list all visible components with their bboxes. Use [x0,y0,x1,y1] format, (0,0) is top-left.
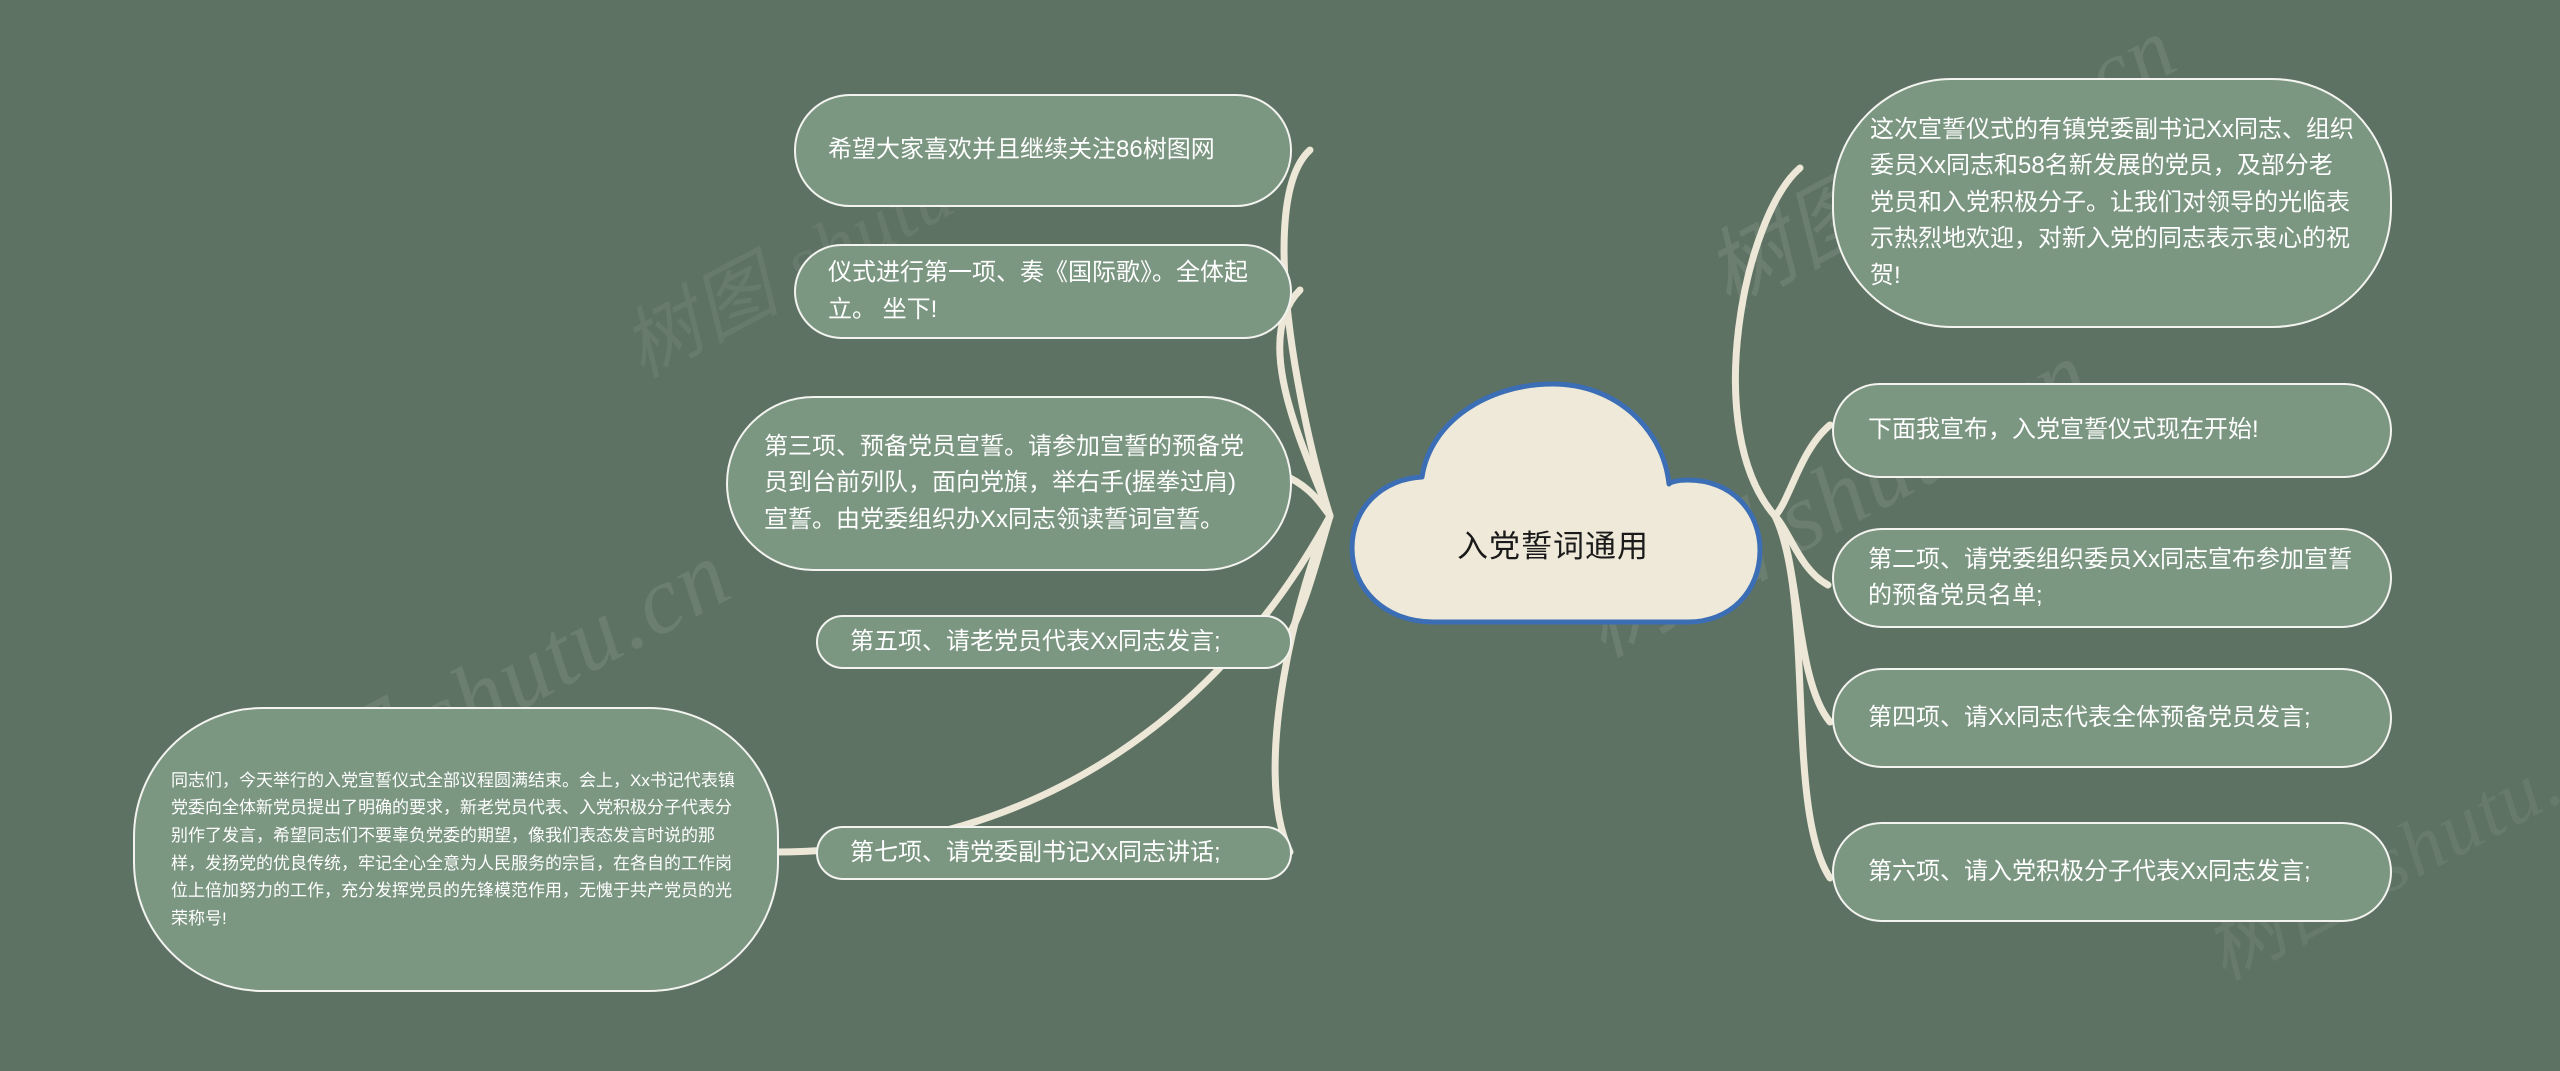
link-left-3 [1290,478,1330,516]
node-right-3-label: 第二项、请党委组织委员Xx同志宣布参加宣誓的预备党员名单; [1868,542,2356,615]
node-right-5-label: 第六项、请入党积极分子代表Xx同志发言; [1868,854,2356,890]
node-left-2-label: 仪式进行第一项、奏《国际歌》。全体起立。 坐下! [828,255,1258,328]
node-left-2[interactable]: 仪式进行第一项、奏《国际歌》。全体起立。 坐下! [794,244,1292,339]
node-left-1[interactable]: 希望大家喜欢并且继续关注86树图网 [794,94,1292,207]
node-left-4[interactable]: 第五项、请老党员代表Xx同志发言; [816,615,1292,669]
root-node[interactable]: 入党誓词通用 [1338,376,1768,656]
node-left-6-label: 同志们，今天举行的入党宣誓仪式全部议程圆满结束。会上，Xx书记代表镇党委向全体新… [171,767,741,932]
node-right-1[interactable]: 这次宣誓仪式的有镇党委副书记Xx同志、组织委员Xx同志和58名新发展的党员，及部… [1832,78,2392,328]
mindmap-canvas: 树图 shutu.cn 树图 shutu.cn 树图 shutu.cn 树图 s… [0,0,2560,1071]
node-left-1-label: 希望大家喜欢并且继续关注86树图网 [828,132,1258,168]
node-left-6[interactable]: 同志们，今天举行的入党宣誓仪式全部议程圆满结束。会上，Xx书记代表镇党委向全体新… [133,707,779,992]
node-right-1-label: 这次宣誓仪式的有镇党委副书记Xx同志、组织委员Xx同志和58名新发展的党员，及部… [1870,112,2354,294]
link-right-3 [1775,516,1828,585]
link-left-5 [1275,516,1330,852]
node-right-5[interactable]: 第六项、请入党积极分子代表Xx同志发言; [1832,822,2392,922]
link-right-5 [1775,516,1830,878]
link-left-1 [1284,150,1330,516]
node-right-3[interactable]: 第二项、请党委组织委员Xx同志宣布参加宣誓的预备党员名单; [1832,528,2392,628]
node-left-5[interactable]: 第七项、请党委副书记Xx同志讲话; [816,826,1292,880]
link-right-2 [1775,425,1830,516]
node-left-4-label: 第五项、请老党员代表Xx同志发言; [850,624,1258,660]
node-left-5-label: 第七项、请党委副书记Xx同志讲话; [850,835,1258,871]
root-node-label: 入党誓词通用 [1338,376,1768,656]
node-right-2[interactable]: 下面我宣布，入党宣誓仪式现在开始! [1832,383,2392,478]
link-right-4 [1775,516,1830,722]
node-left-3-label: 第三项、预备党员宣誓。请参加宣誓的预备党员到台前列队，面向党旗，举右手(握拳过肩… [764,429,1254,538]
node-right-4[interactable]: 第四项、请Xx同志代表全体预备党员发言; [1832,668,2392,768]
link-left-4 [1285,516,1330,642]
node-left-3[interactable]: 第三项、预备党员宣誓。请参加宣誓的预备党员到台前列队，面向党旗，举右手(握拳过肩… [726,396,1292,571]
node-right-4-label: 第四项、请Xx同志代表全体预备党员发言; [1868,700,2356,736]
node-right-2-label: 下面我宣布，入党宣誓仪式现在开始! [1868,412,2356,448]
